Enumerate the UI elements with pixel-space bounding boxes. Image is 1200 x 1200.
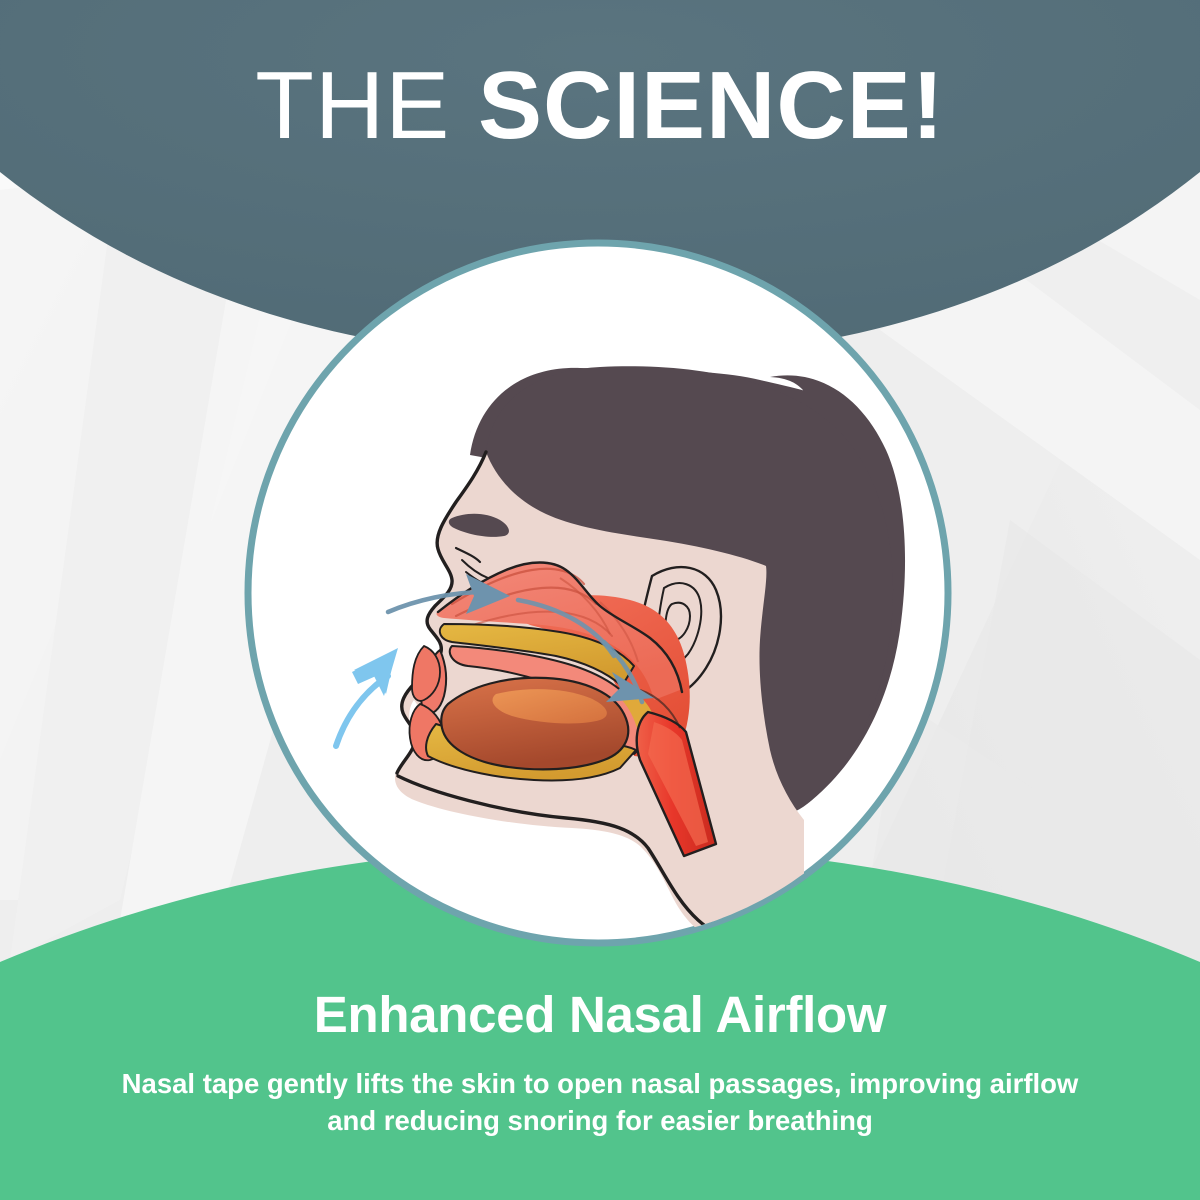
page-title: THE SCIENCE!: [0, 58, 1200, 154]
page-title-part-2: SCIENCE!: [478, 52, 945, 159]
page-title-part-1: THE: [255, 52, 478, 159]
footer-subtext: Nasal tape gently lifts the skin to open…: [100, 1065, 1100, 1140]
infographic-card: THE SCIENCE!: [0, 0, 1200, 1200]
footer-heading: Enhanced Nasal Airflow: [0, 985, 1200, 1044]
